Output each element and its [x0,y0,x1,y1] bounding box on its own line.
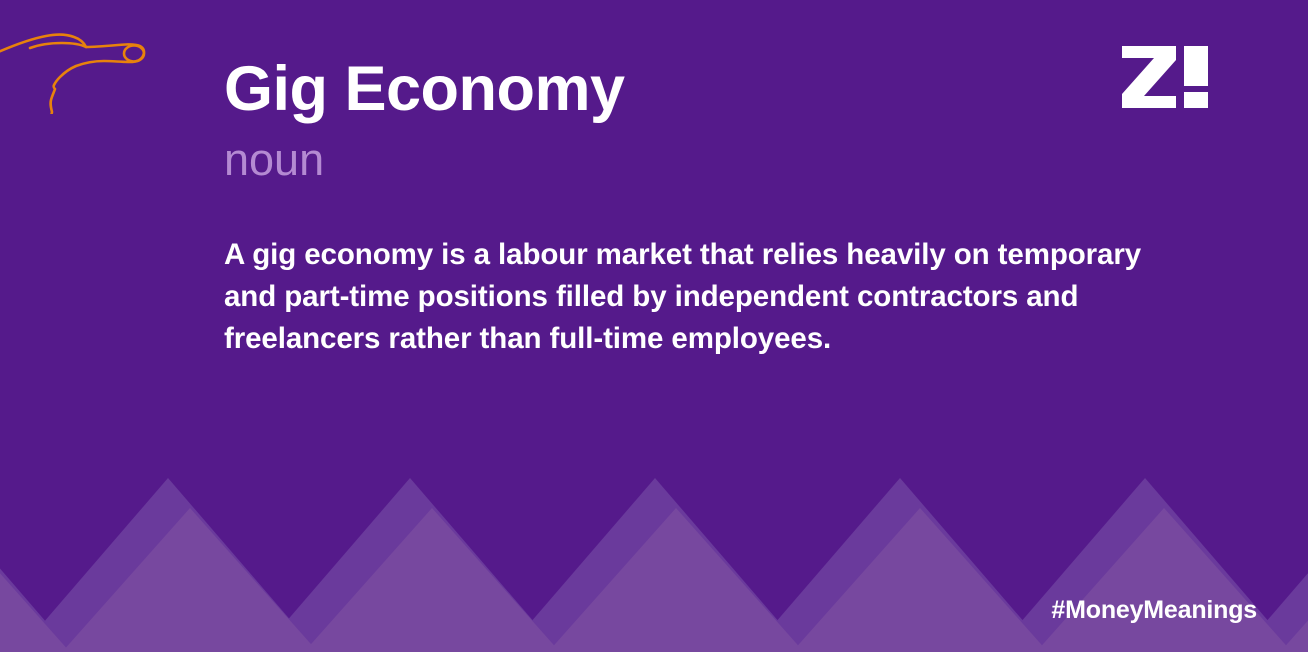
triangle-shape [505,478,805,652]
money-meanings-card: Gig Economy noun A gig economy is a labo… [0,0,1308,652]
triangle-layer-back [0,478,1308,652]
triangle-shape [1240,478,1308,652]
triangle-shape [995,478,1295,652]
triangle-shape [1280,508,1308,652]
definition-content: Gig Economy noun A gig economy is a labo… [224,58,1204,360]
triangle-shape [1036,508,1292,652]
triangle-shape [0,478,72,652]
triangle-shape [18,478,318,652]
triangle-shape [62,508,318,652]
pointing-hand-icon [0,24,164,114]
triangle-shape [0,508,70,652]
definition-text: A gig economy is a labour market that re… [224,234,1184,360]
campaign-hashtag: #MoneyMeanings [1051,596,1257,625]
triangle-shape [304,508,560,652]
triangle-layer-front [0,508,1308,652]
triangle-shape [750,478,1050,652]
triangle-shape [260,478,560,652]
triangle-shape [792,508,1048,652]
triangle-shape [548,508,804,652]
page-title: Gig Economy [224,58,1204,121]
part-of-speech-label: noun [224,137,1204,182]
